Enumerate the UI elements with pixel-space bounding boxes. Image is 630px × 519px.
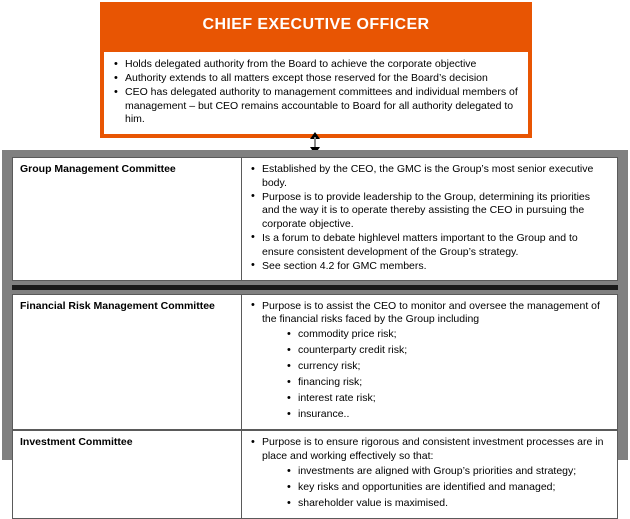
list-item: See section 4.2 for GMC members. xyxy=(249,260,610,274)
list-item: Purpose is to assist the CEO to monitor … xyxy=(249,300,610,327)
ceo-bullet-list: Holds delegated authority from the Board… xyxy=(112,58,520,127)
list-item: Authority extends to all matters except … xyxy=(112,72,520,86)
committee-content: Purpose is to ensure rigorous and consis… xyxy=(242,431,618,519)
list-item: investments are aligned with Group’s pri… xyxy=(285,464,610,480)
list-item: Established by the CEO, the GMC is the G… xyxy=(249,163,610,190)
ceo-block: CHIEF EXECUTIVE OFFICER Holds delegated … xyxy=(100,2,532,138)
list-item: financing risk; xyxy=(285,375,610,391)
committee-content: Purpose is to assist the CEO to monitor … xyxy=(242,294,618,430)
committee-content: Established by the CEO, the GMC is the G… xyxy=(242,158,618,281)
committee-block-financial-risk-management-committee: Financial Risk Management Committee Purp… xyxy=(12,294,618,431)
list-item: shareholder value is maximised. xyxy=(285,496,610,512)
committee-bullet-list: Purpose is to assist the CEO to monitor … xyxy=(249,300,610,327)
list-item: commodity price risk; xyxy=(285,327,610,343)
section-separator-bar xyxy=(12,285,618,290)
ceo-body: Holds delegated authority from the Board… xyxy=(100,48,532,138)
table-row: Financial Risk Management Committee Purp… xyxy=(13,294,618,430)
list-item: key risks and opportunities are identifi… xyxy=(285,480,610,496)
committee-table: Group Management Committee Established b… xyxy=(12,157,618,281)
committee-bullet-list: Established by the CEO, the GMC is the G… xyxy=(249,163,610,273)
committee-subbullet-list: commodity price risk;counterparty credit… xyxy=(285,327,610,423)
list-item: CEO has delegated authority to managemen… xyxy=(112,86,520,127)
list-item: Holds delegated authority from the Board… xyxy=(112,58,520,72)
list-item: currency risk; xyxy=(285,359,610,375)
committee-bullet-list: Purpose is to ensure rigorous and consis… xyxy=(249,436,610,463)
ceo-title-bar: CHIEF EXECUTIVE OFFICER xyxy=(100,2,532,48)
list-item: insurance.. xyxy=(285,407,610,423)
committee-label: Financial Risk Management Committee xyxy=(13,294,242,430)
committees-frame: Group Management Committee Established b… xyxy=(2,150,628,460)
committee-block-group-management-committee: Group Management Committee Established b… xyxy=(12,157,618,281)
list-item: Purpose is to ensure rigorous and consis… xyxy=(249,436,610,463)
list-item: interest rate risk; xyxy=(285,391,610,407)
table-row: Group Management Committee Established b… xyxy=(13,158,618,281)
committee-subbullet-list: investments are aligned with Group’s pri… xyxy=(285,464,610,512)
list-item: Is a forum to debate highlevel matters i… xyxy=(249,232,610,259)
ceo-body-inner: Holds delegated authority from the Board… xyxy=(104,52,528,134)
ceo-title: CHIEF EXECUTIVE OFFICER xyxy=(203,16,430,34)
list-item: counterparty credit risk; xyxy=(285,343,610,359)
table-row: Investment Committee Purpose is to ensur… xyxy=(13,431,618,519)
committee-table: Financial Risk Management Committee Purp… xyxy=(12,294,618,431)
committee-label: Investment Committee xyxy=(13,431,242,519)
committee-block-investment-committee: Investment Committee Purpose is to ensur… xyxy=(12,430,618,519)
committee-table: Investment Committee Purpose is to ensur… xyxy=(12,430,618,519)
committee-label: Group Management Committee xyxy=(13,158,242,281)
list-item: Purpose is to provide leadership to the … xyxy=(249,191,610,232)
